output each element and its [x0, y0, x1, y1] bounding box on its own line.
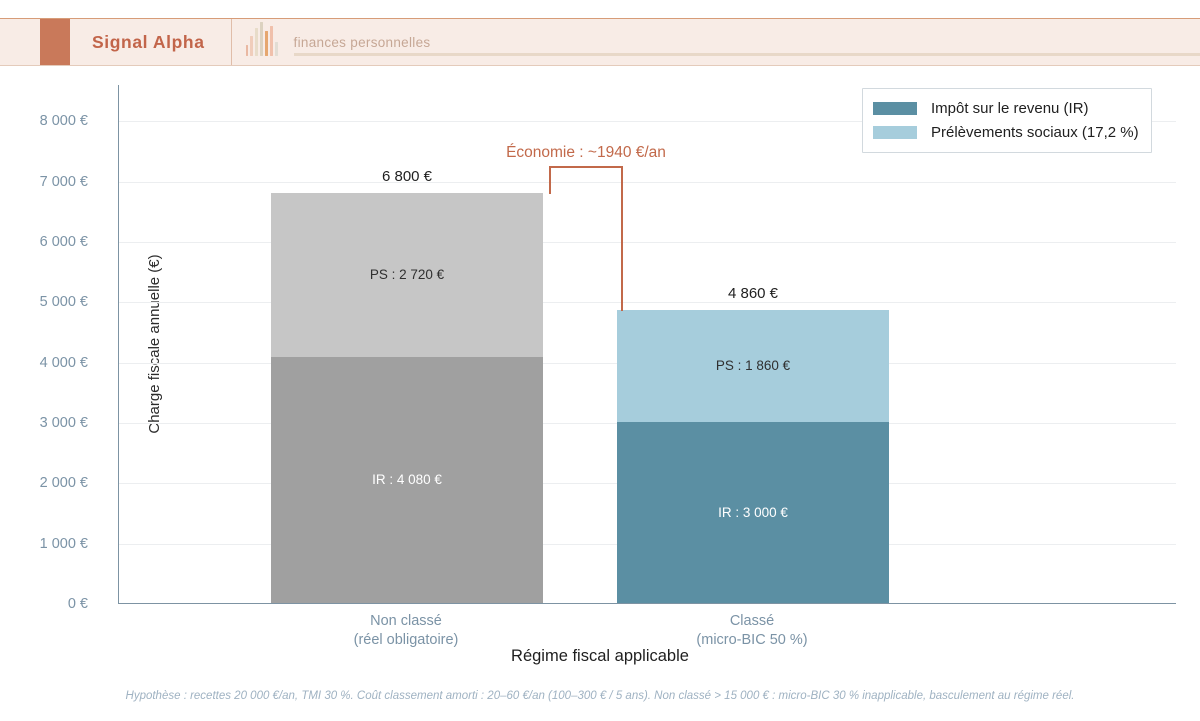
y-tick-label: 0 € — [0, 596, 88, 612]
footnote: Hypothèse : recettes 20 000 €/an, TMI 30… — [0, 690, 1200, 702]
x-tick-label: Non classé(réel obligatoire) — [246, 612, 566, 650]
x-tick-line1: Non classé — [246, 612, 566, 631]
chart-legend: Impôt sur le revenu (IR) Prélèvements so… — [862, 88, 1152, 153]
legend-label-ps: Prélèvements sociaux (17,2 %) — [931, 124, 1139, 141]
brand-accent-swatch — [40, 19, 70, 65]
bracket-right-tick — [621, 166, 623, 311]
y-tick-label: 5 000 € — [0, 294, 88, 310]
x-tick-label: Classé(micro-BIC 50 %) — [592, 612, 912, 650]
legend-item: Impôt sur le revenu (IR) — [873, 96, 1139, 120]
legend-label-ir: Impôt sur le revenu (IR) — [931, 100, 1089, 117]
plot-area: Charge fiscale annuelle (€) 0 €1 000 €2 … — [118, 85, 1176, 604]
y-tick-label: 6 000 € — [0, 234, 88, 250]
app-header: Signal Alpha finances personnelles — [0, 18, 1200, 66]
legend-item: Prélèvements sociaux (17,2 %) — [873, 120, 1139, 144]
tagline-rule — [294, 53, 1200, 56]
brand-title: Signal Alpha — [70, 19, 232, 65]
y-tick-label: 1 000 € — [0, 536, 88, 552]
bar-segment-ir[interactable]: IR : 4 080 € — [271, 357, 543, 603]
x-tick-line1: Classé — [592, 612, 912, 631]
bar-total-label: 4 860 € — [617, 285, 889, 302]
savings-annotation-label: Économie : ~1940 €/an — [506, 144, 666, 162]
bar-segment-ir[interactable]: IR : 3 000 € — [617, 422, 889, 603]
legend-swatch-ps — [873, 126, 917, 139]
chart-figure: Charge fiscale annuelle (€) 0 €1 000 €2 … — [0, 66, 1200, 721]
tagline-area: finances personnelles — [284, 19, 1200, 65]
y-axis-title: Charge fiscale annuelle (€) — [146, 254, 163, 433]
y-tick-label: 4 000 € — [0, 355, 88, 371]
y-tick-label: 7 000 € — [0, 174, 88, 190]
bar-total-label: 6 800 € — [271, 168, 543, 185]
y-tick-label: 3 000 € — [0, 415, 88, 431]
x-axis-title: Régime fiscal applicable — [0, 647, 1200, 666]
bar-column[interactable]: IR : 3 000 €PS : 1 860 €4 860 € — [617, 310, 889, 603]
bar-segment-ps[interactable]: PS : 2 720 € — [271, 193, 543, 357]
legend-swatch-ir — [873, 102, 917, 115]
bracket-top-rule — [549, 166, 623, 168]
bracket-left-tick — [549, 166, 551, 194]
savings-bracket: Économie : ~1940 €/an — [549, 166, 623, 311]
bar-chart-logo-icon — [232, 19, 284, 65]
tagline-text: finances personnelles — [294, 35, 431, 50]
y-tick-label: 8 000 € — [0, 113, 88, 129]
bar-segment-ps[interactable]: PS : 1 860 € — [617, 310, 889, 422]
y-tick-label: 2 000 € — [0, 475, 88, 491]
bar-column[interactable]: IR : 4 080 €PS : 2 720 €6 800 € — [271, 193, 543, 603]
